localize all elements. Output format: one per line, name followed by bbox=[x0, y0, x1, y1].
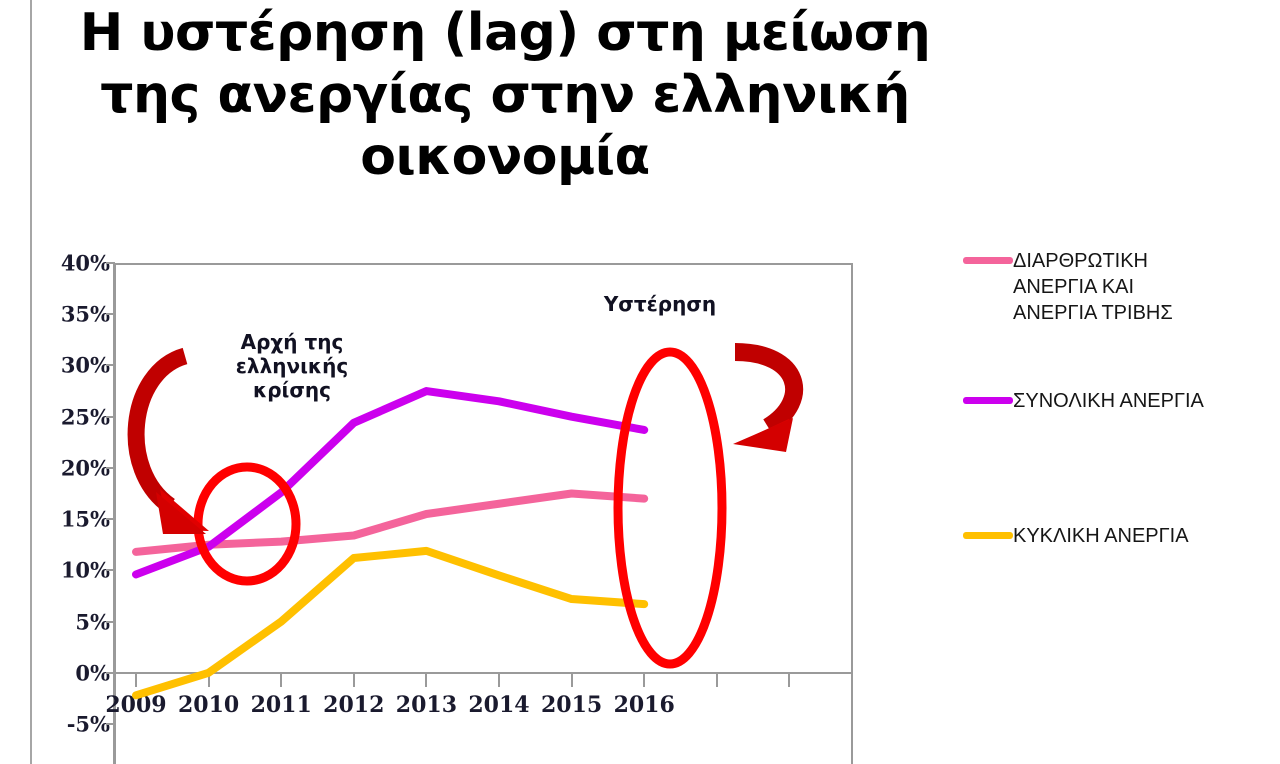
y-axis-tick-mark bbox=[106, 416, 115, 418]
y-axis-tick-mark bbox=[106, 364, 115, 366]
legend-color-swatch bbox=[963, 397, 1013, 404]
y-axis-tick-mark bbox=[106, 467, 115, 469]
y-axis-tick-label: 30% bbox=[38, 353, 110, 378]
x-axis-tick-mark bbox=[353, 674, 355, 687]
y-axis-tick-label: 40% bbox=[38, 251, 110, 276]
x-axis-zero-line bbox=[114, 672, 853, 674]
y-axis-labels: 40%35%30%25%20%15%10%5%0%-5% bbox=[30, 0, 110, 764]
x-axis-tick-mark bbox=[643, 674, 645, 687]
annotation-crisis-start: Αρχή της ελληνικής κρίσης bbox=[197, 330, 387, 402]
legend-color-swatch bbox=[963, 532, 1013, 539]
title-line-1: Η υστέρηση (lag) στη μείωση bbox=[40, 2, 970, 64]
y-axis-tick-label: 25% bbox=[38, 404, 110, 429]
legend-item[interactable]: ΚΥΚΛΙΚΗ ΑΝΕΡΓΙΑ bbox=[963, 523, 1189, 549]
y-axis-tick-mark bbox=[106, 672, 115, 674]
title-line-2: της ανεργίας στην ελληνική bbox=[40, 64, 970, 126]
x-axis-tick-mark bbox=[788, 674, 790, 687]
title-line-3: οικονομία bbox=[40, 126, 970, 188]
x-axis-tick-label: 2016 bbox=[599, 692, 689, 718]
y-axis-tick-label: 5% bbox=[38, 609, 110, 634]
y-axis-tick-mark bbox=[106, 262, 115, 264]
y-axis-line bbox=[113, 263, 115, 764]
legend-color-swatch bbox=[963, 257, 1013, 264]
legend-label: ΔΙΑΡΘΡΩΤΙΚΗ ΑΝΕΡΓΙΑ ΚΑΙ ΑΝΕΡΓΙΑ ΤΡΙΒΗΣ bbox=[1013, 248, 1173, 326]
x-axis-tick-mark bbox=[571, 674, 573, 687]
annotation-lag: Υστέρηση bbox=[560, 292, 760, 316]
y-axis-tick-label: 10% bbox=[38, 558, 110, 583]
x-axis-tick-mark bbox=[716, 674, 718, 687]
y-axis-tick-label: 35% bbox=[38, 302, 110, 327]
x-axis-tick-mark bbox=[280, 674, 282, 687]
page-title: Η υστέρηση (lag) στη μείωση της ανεργίας… bbox=[40, 2, 970, 188]
legend-item[interactable]: ΔΙΑΡΘΡΩΤΙΚΗ ΑΝΕΡΓΙΑ ΚΑΙ ΑΝΕΡΓΙΑ ΤΡΙΒΗΣ bbox=[963, 248, 1173, 326]
x-axis-tick-mark bbox=[208, 674, 210, 687]
legend-label: ΣΥΝΟΛΙΚΗ ΑΝΕΡΓΙΑ bbox=[1013, 388, 1204, 414]
y-axis-tick-mark bbox=[106, 723, 115, 725]
y-axis-tick-label: 15% bbox=[38, 507, 110, 532]
y-axis-tick-label: 0% bbox=[38, 660, 110, 685]
y-axis-tick-mark bbox=[106, 313, 115, 315]
legend-label: ΚΥΚΛΙΚΗ ΑΝΕΡΓΙΑ bbox=[1013, 523, 1189, 549]
x-axis-tick-mark bbox=[135, 674, 137, 687]
y-axis-tick-mark bbox=[106, 621, 115, 623]
x-axis-tick-mark bbox=[425, 674, 427, 687]
y-axis-tick-label: 20% bbox=[38, 455, 110, 480]
legend-item[interactable]: ΣΥΝΟΛΙΚΗ ΑΝΕΡΓΙΑ bbox=[963, 388, 1204, 414]
x-axis-tick-mark bbox=[498, 674, 500, 687]
y-axis-tick-mark bbox=[106, 518, 115, 520]
y-axis-tick-mark bbox=[106, 569, 115, 571]
